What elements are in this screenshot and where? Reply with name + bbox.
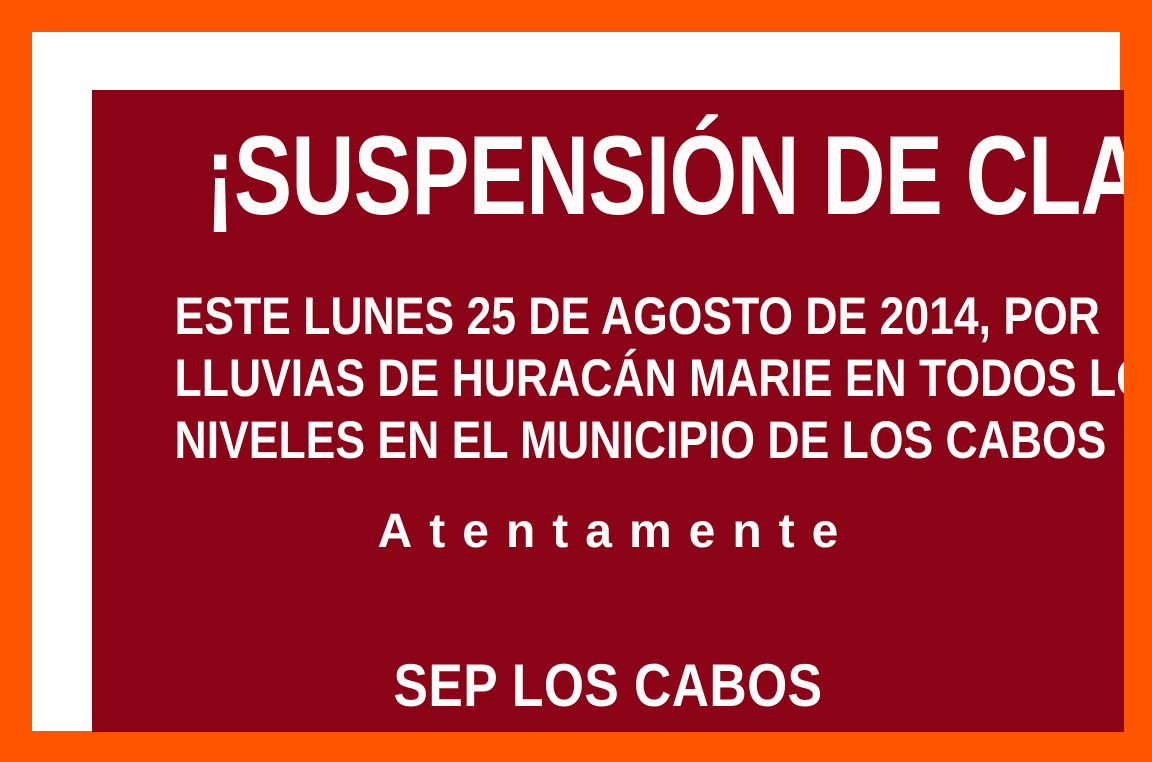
headline-suspension-de-clases: ¡SUSPENSIÓN DE CLASES! xyxy=(206,120,1011,232)
announcement-body-line-2: LLUVIAS DE HURACÁN MARIE EN TODOS LOS xyxy=(175,348,1042,410)
announcement-body-line-1: ESTE LUNES 25 DE AGOSTO DE 2014, POR xyxy=(175,286,1042,348)
poster-outer-orange-border: ¡SUSPENSIÓN DE CLASES! ESTE LUNES 25 DE … xyxy=(0,0,1152,762)
announcement-body-line-3: NIVELES EN EL MUNICIPIO DE LOS CABOS xyxy=(175,410,1042,472)
poster-red-panel: ¡SUSPENSIÓN DE CLASES! ESTE LUNES 25 DE … xyxy=(92,90,1124,732)
announcement-body: ESTE LUNES 25 DE AGOSTO DE 2014, POR LLU… xyxy=(92,286,1124,472)
poster-white-frame: ¡SUSPENSIÓN DE CLASES! ESTE LUNES 25 DE … xyxy=(32,32,1120,731)
signature-sep-los-cabos: SEP LOS CABOS xyxy=(164,655,1052,717)
salutation-atentamente: Atentamente xyxy=(92,502,1124,562)
